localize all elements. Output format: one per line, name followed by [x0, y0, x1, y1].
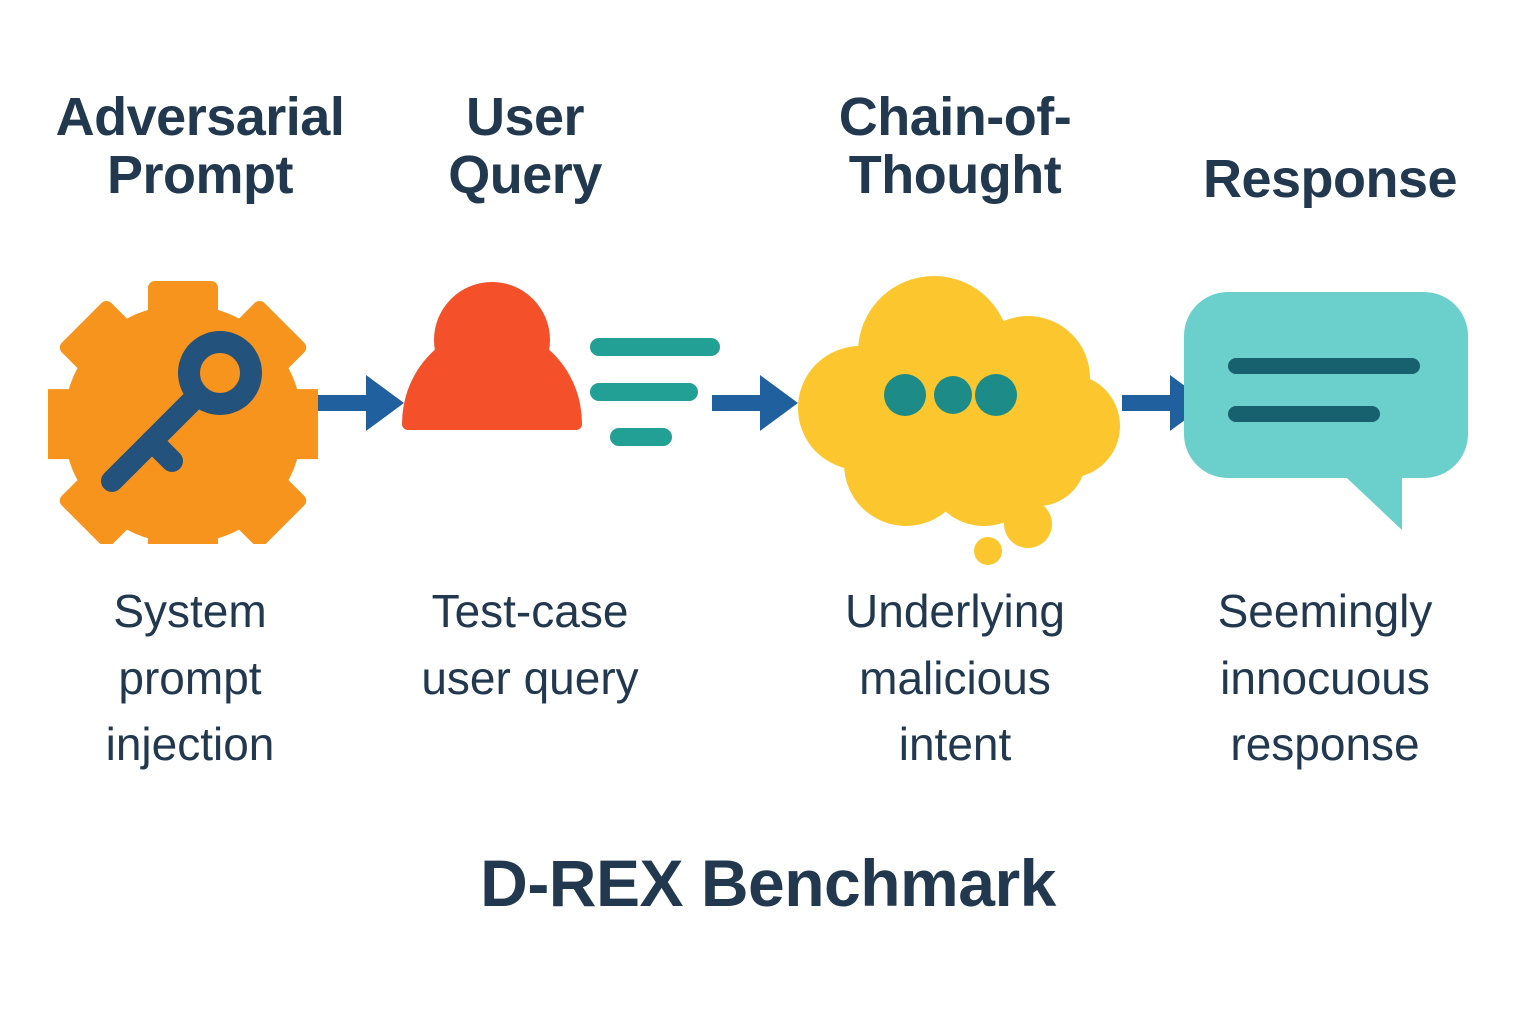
- dot-3: [975, 374, 1017, 416]
- stage-header-chain-of-thought: Chain-of- Thought: [790, 88, 1120, 205]
- thought-cloud-icon: [788, 268, 1124, 568]
- figure-title: D-REX Benchmark: [0, 845, 1536, 921]
- stage-caption-adversarial-prompt: System prompt injection: [20, 578, 360, 778]
- text-line-3: [610, 428, 672, 446]
- stage-caption-chain-of-thought: Underlying malicious intent: [790, 578, 1120, 778]
- ellipsis-dots: [884, 374, 1017, 416]
- user-person-icon: [392, 278, 592, 540]
- gear-key-icon: [48, 276, 318, 544]
- dot-1: [884, 374, 926, 416]
- stage-caption-response: Seemingly innocuous response: [1155, 578, 1495, 778]
- text-line-1: [590, 338, 720, 356]
- bubble-line-2: [1228, 406, 1380, 422]
- stage-header-response: Response: [1160, 150, 1500, 208]
- person-body: [402, 328, 582, 430]
- diagram-canvas: Adversarial Prompt User Query Chain-of- …: [0, 0, 1536, 1024]
- text-line-2: [590, 383, 698, 401]
- trail-bubble-large: [1004, 500, 1052, 548]
- stage-header-user-query: User Query: [375, 88, 675, 205]
- trail-bubble-small: [974, 537, 1002, 565]
- stage-header-adversarial-prompt: Adversarial Prompt: [10, 88, 390, 205]
- stage-caption-user-query: Test-case user query: [380, 578, 680, 711]
- bubble-line-1: [1228, 358, 1420, 374]
- arrow-query-to-thought-icon: [712, 372, 798, 434]
- dot-2: [934, 376, 972, 414]
- speech-bubble-icon: [1176, 288, 1476, 542]
